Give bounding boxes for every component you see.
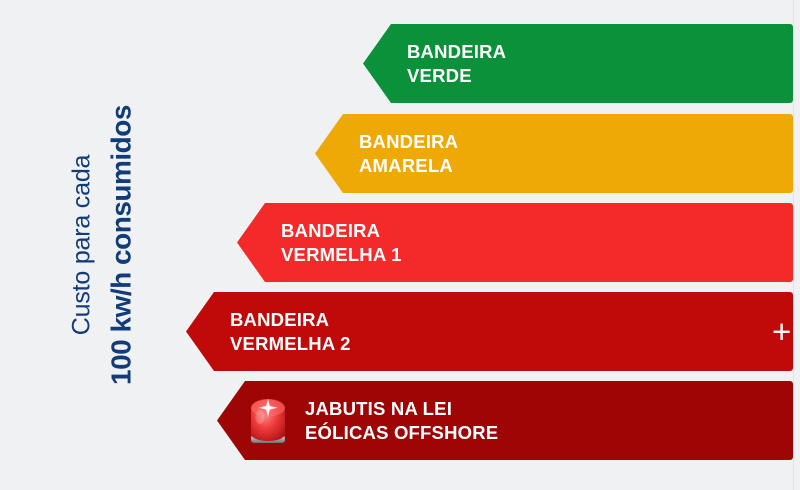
siren-alarm-icon [247, 397, 289, 445]
caption-line-2: 100 kw/h consumidos [106, 105, 137, 385]
bar-label-jabutis: JABUTIS NA LEI EÓLICAS OFFSHORE [305, 397, 498, 444]
bar-content: BANDEIRA AMARELA + R$ 1,88 [315, 114, 793, 193]
caption-line-1: Custo para cada [68, 155, 96, 335]
bar-content: JABUTIS NA LEI EÓLICAS OFFSHORE + R$ 7,6… [217, 381, 793, 460]
caption-line-1-wrap: Custo para cada [69, 155, 96, 335]
bar-bandeira-vermelha-1: BANDEIRA VERMELHA 1 + R$ 4,46 [237, 203, 793, 282]
page-right-edge [793, 0, 800, 490]
bar-label-verde: BANDEIRA VERDE [407, 40, 506, 87]
bar-content: BANDEIRA VERMELHA 1 + R$ 4,46 [237, 203, 793, 282]
vertical-caption: Custo para cada 100 kw/h consumidos [56, 0, 148, 490]
bar-label-amarela: BANDEIRA AMARELA [359, 130, 458, 177]
bar-label-vermelha-1: BANDEIRA VERMELHA 1 [281, 219, 402, 266]
bar-content: BANDEIRA VERMELHA 2 + R$ 7,87 [186, 292, 793, 371]
infographic-root: Custo para cada 100 kw/h consumidos BAND… [0, 0, 800, 490]
bar-jabutis-eolicas-offshore: JABUTIS NA LEI EÓLICAS OFFSHORE + R$ 7,6… [217, 381, 793, 460]
bar-bandeira-verde: BANDEIRA VERDE + R$ 0,00 [363, 24, 793, 103]
bar-label-vermelha-2: BANDEIRA VERMELHA 2 [230, 308, 351, 355]
bar-bandeira-amarela: BANDEIRA AMARELA + R$ 1,88 [315, 114, 793, 193]
bar-bandeira-vermelha-2: BANDEIRA VERMELHA 2 + R$ 7,87 [186, 292, 793, 371]
bar-content: BANDEIRA VERDE + R$ 0,00 [363, 24, 793, 103]
caption-line-2-wrap: 100 kw/h consumidos [107, 105, 138, 385]
